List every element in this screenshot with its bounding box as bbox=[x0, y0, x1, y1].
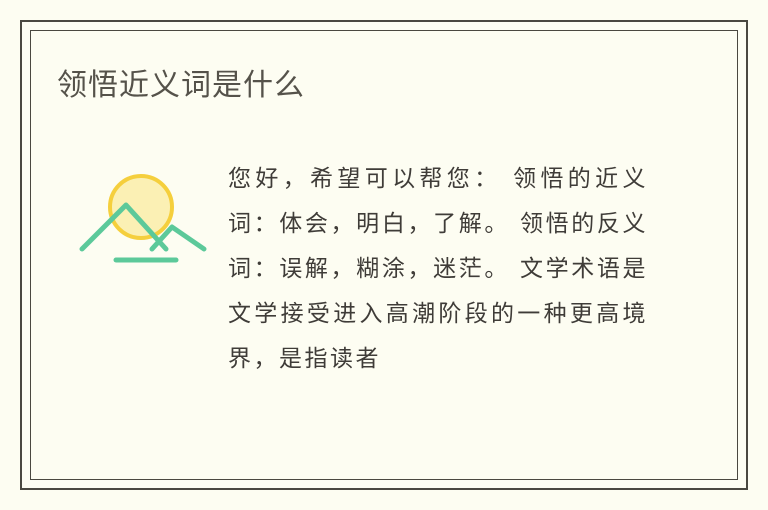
page-title: 领悟近义词是什么 bbox=[57, 67, 305, 105]
article-body: 您好，希望可以帮您： 领悟的近义词：体会，明白，了解。 领悟的反义词：误解，糊涂… bbox=[228, 157, 648, 382]
article-card: 领悟近义词是什么 您好，希望可以帮您： 领悟的近义词：体会，明白，了解。 领悟的… bbox=[20, 20, 748, 490]
article-paragraph: 您好，希望可以帮您： 领悟的近义词：体会，明白，了解。 领悟的反义词：误解，糊涂… bbox=[228, 157, 648, 382]
sunrise-mountains-illustration bbox=[78, 171, 208, 263]
sun-icon bbox=[110, 176, 172, 238]
